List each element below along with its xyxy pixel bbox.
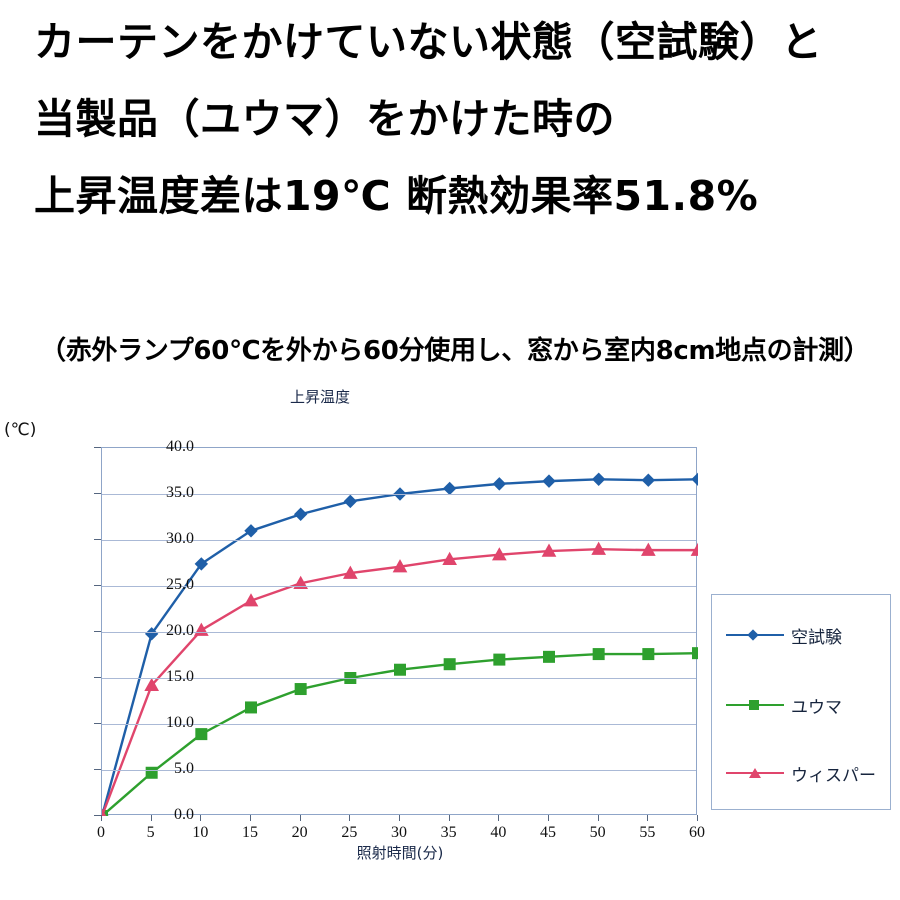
y-tick-label: 15.0 <box>132 668 194 686</box>
legend-item-3[interactable]: ウィスパー <box>712 759 890 787</box>
data-point-marker <box>196 729 207 740</box>
legend-label: ウィスパー <box>791 761 876 786</box>
x-tick-mark <box>349 815 350 821</box>
x-tick-mark <box>647 815 648 821</box>
data-point-marker <box>444 482 456 494</box>
x-tick-label: 0 <box>81 824 121 842</box>
data-point-marker <box>444 659 455 670</box>
x-tick-label: 25 <box>329 824 369 842</box>
headline-line-3: 上昇温度差は19℃ 断熱効果率51.8% <box>34 176 874 217</box>
y-tick-mark <box>94 585 101 586</box>
data-point-marker <box>344 495 356 507</box>
y-tick-mark <box>94 815 101 816</box>
y-axis-unit-label: (℃) <box>4 420 36 440</box>
y-tick-mark <box>94 769 101 770</box>
legend-item-1[interactable]: 空試験 <box>712 621 890 649</box>
legend-swatch-icon <box>726 627 784 643</box>
y-tick-label: 20.0 <box>132 622 194 640</box>
x-tick-label: 5 <box>131 824 171 842</box>
y-tick-label: 10.0 <box>132 714 194 732</box>
y-tick-mark <box>94 631 101 632</box>
x-tick-mark <box>498 815 499 821</box>
page-root: カーテンをかけていない状態（空試験）と 当製品（ユウマ）をかけた時の 上昇温度差… <box>0 0 900 900</box>
x-tick-label: 35 <box>429 824 469 842</box>
x-axis-title: 照射時間(分) <box>100 842 700 863</box>
headline-block: カーテンをかけていない状態（空試験）と 当製品（ユウマ）をかけた時の 上昇温度差… <box>34 22 874 253</box>
data-point-marker <box>395 664 406 675</box>
temperature-rise-chart: 上昇温度 (℃) 0.05.010.015.020.025.030.035.04… <box>0 380 900 900</box>
data-point-marker <box>692 473 698 485</box>
y-tick-mark <box>94 447 101 448</box>
x-tick-mark <box>598 815 599 821</box>
data-point-marker <box>643 649 654 660</box>
legend-label: ユウマ <box>791 693 842 718</box>
y-tick-label: 30.0 <box>132 530 194 548</box>
measurement-condition-subtitle: （赤外ランプ60℃を外から60分使用し、窓から室内8cm地点の計測） <box>40 330 870 367</box>
data-point-marker <box>295 684 306 695</box>
x-tick-label: 15 <box>230 824 270 842</box>
chart-title: 上昇温度 <box>0 386 640 407</box>
y-tick-label: 0.0 <box>132 806 194 824</box>
data-point-marker <box>494 654 505 665</box>
legend-label: 空試験 <box>791 623 842 648</box>
data-point-marker <box>543 475 555 487</box>
x-tick-mark <box>101 815 102 821</box>
y-tick-label: 40.0 <box>132 438 194 456</box>
y-tick-mark <box>94 677 101 678</box>
data-point-marker <box>544 651 555 662</box>
data-point-marker <box>295 508 307 520</box>
y-tick-mark <box>94 493 101 494</box>
data-point-marker <box>246 702 257 713</box>
headline-line-2: 当製品（ユウマ）をかけた時の <box>34 99 874 140</box>
x-tick-mark <box>449 815 450 821</box>
y-tick-label: 35.0 <box>132 484 194 502</box>
y-tick-mark <box>94 539 101 540</box>
x-tick-label: 30 <box>379 824 419 842</box>
x-tick-label: 40 <box>478 824 518 842</box>
data-point-marker <box>195 624 208 636</box>
x-tick-mark <box>697 815 698 821</box>
y-tick-label: 25.0 <box>132 576 194 594</box>
x-tick-label: 50 <box>578 824 618 842</box>
data-point-marker <box>593 649 604 660</box>
x-tick-label: 10 <box>180 824 220 842</box>
x-tick-mark <box>151 815 152 821</box>
x-tick-label: 60 <box>677 824 717 842</box>
x-tick-label: 20 <box>280 824 320 842</box>
x-tick-mark <box>250 815 251 821</box>
x-tick-label: 55 <box>627 824 667 842</box>
x-tick-mark <box>200 815 201 821</box>
legend-swatch-icon <box>726 697 784 713</box>
data-point-marker <box>493 478 505 490</box>
x-tick-label: 45 <box>528 824 568 842</box>
headline-line-1: カーテンをかけていない状態（空試験）と <box>34 22 874 63</box>
data-point-marker <box>642 474 654 486</box>
data-point-marker <box>593 473 605 485</box>
y-tick-mark <box>94 723 101 724</box>
x-tick-mark <box>399 815 400 821</box>
legend-swatch-icon <box>726 765 784 781</box>
legend-item-2[interactable]: ユウマ <box>712 691 890 719</box>
y-tick-label: 5.0 <box>132 760 194 778</box>
x-tick-mark <box>548 815 549 821</box>
chart-legend: 空試験ユウマウィスパー <box>711 594 891 810</box>
x-tick-mark <box>300 815 301 821</box>
data-point-marker <box>693 648 699 659</box>
